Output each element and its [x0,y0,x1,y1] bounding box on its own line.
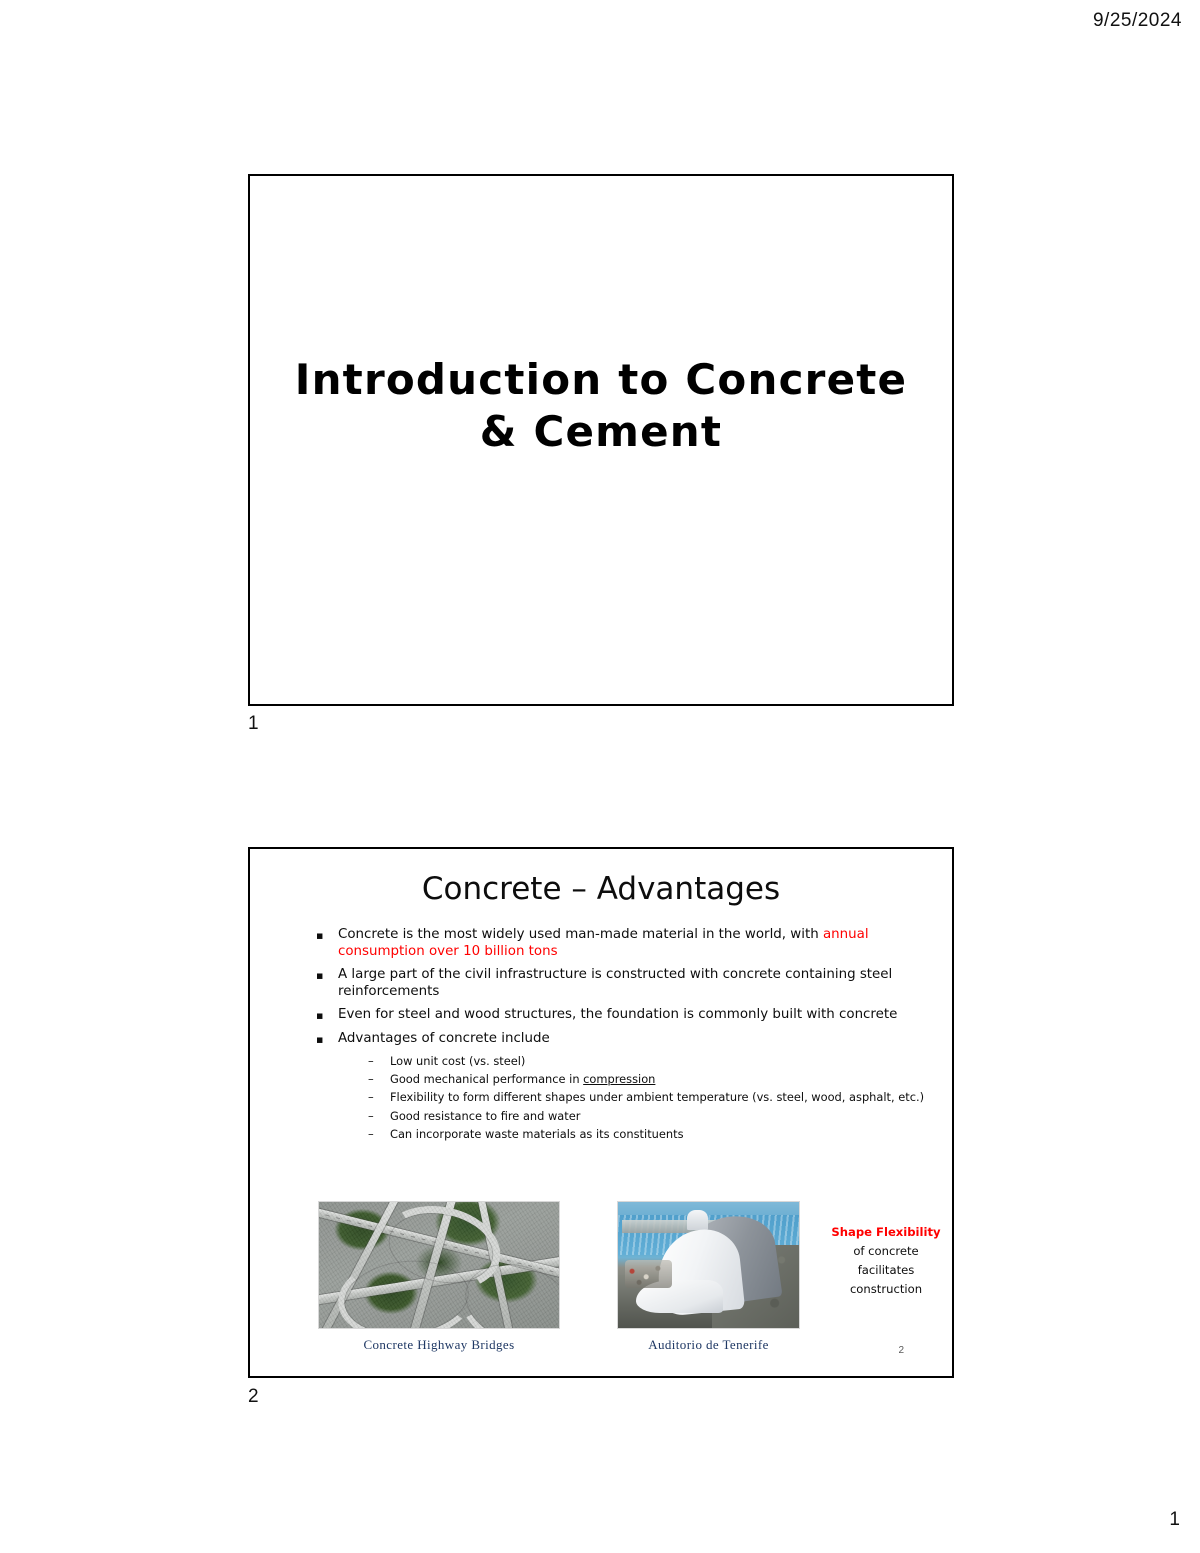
slide-2-page-number: 2 [898,1345,904,1356]
aerial-texture-overlay [319,1202,559,1328]
dash-marker-icon: – [368,1054,374,1069]
slide-1: Introduction to Concrete & Cement [248,174,954,706]
page-date: 9/25/2024 [1093,10,1182,32]
slide-2-title: Concrete – Advantages [250,871,952,907]
dash-marker-icon: – [368,1072,374,1087]
shape-flexibility-line-2: of concrete [820,1242,952,1261]
dash-marker-icon: – [368,1090,374,1105]
sub-bullet-text: Low unit cost (vs. steel) [390,1054,525,1068]
slide-2-figure-row: Concrete Highway Bridges Auditorio de Te… [250,1201,952,1361]
bullet-text: A large part of the civil infrastructure… [338,967,892,999]
sub-bullet-item: – Can incorporate waste materials as its… [364,1127,928,1142]
bullet-item: ▪ Advantages of concrete include – Low u… [308,1031,928,1143]
bullet-item: ▪ Even for steel and wood structures, th… [308,1007,928,1024]
sub-bullet-text: Flexibility to form different shapes und… [390,1090,924,1104]
figure-caption: Concrete Highway Bridges [318,1337,560,1353]
sub-bullet-text: Good mechanical performance in [390,1072,583,1086]
figure-auditorio-de-tenerife: Auditorio de Tenerife [617,1201,800,1353]
sub-bullet-item: – Low unit cost (vs. steel) [364,1054,928,1069]
sub-bullet-text: Good resistance to fire and water [390,1109,580,1123]
page-footer-number: 1 [1169,1509,1180,1531]
bullet-text: Concrete is the most widely used man-mad… [338,927,823,942]
bullet-marker-icon: ▪ [316,968,323,985]
bullet-marker-icon: ▪ [316,1008,323,1025]
sub-bullet-item: – Flexibility to form different shapes u… [364,1090,928,1105]
sub-bullet-item: – Good resistance to fire and water [364,1109,928,1124]
photo-auditorio-de-tenerife [617,1201,800,1329]
bullet-marker-icon: ▪ [316,1032,323,1049]
sub-bullet-underlined-text: compression [583,1072,655,1086]
bullet-text: Even for steel and wood structures, the … [338,1007,897,1022]
slide-2-index-label: 2 [248,1386,259,1408]
people-and-vehicles [625,1260,672,1288]
figure-caption: Auditorio de Tenerife [617,1337,800,1353]
slide-2-sub-bullet-list: – Low unit cost (vs. steel) – Good mecha… [364,1054,928,1143]
bullet-item: ▪ Concrete is the most widely used man-m… [308,927,928,960]
photo-concrete-highway-bridges [318,1201,560,1329]
bullet-text: Advantages of concrete include [338,1031,550,1046]
shape-flexibility-line-3: facilitates [820,1261,952,1280]
figure-concrete-highway-bridges: Concrete Highway Bridges [318,1201,560,1353]
dash-marker-icon: – [368,1127,374,1142]
slide-2: Concrete – Advantages ▪ Concrete is the … [248,847,954,1378]
slide-1-index-label: 1 [248,713,259,735]
shape-flexibility-note: Shape Flexibility of concrete facilitate… [820,1223,952,1299]
slide-1-title-block: Introduction to Concrete & Cement [250,354,952,458]
bullet-item: ▪ A large part of the civil infrastructu… [308,967,928,1000]
auditorium-tower [687,1210,709,1230]
shape-flexibility-line-4: construction [820,1280,952,1299]
sub-bullet-item: – Good mechanical performance in compres… [364,1072,928,1087]
slide-1-title-line-1: Introduction to Concrete [250,354,952,406]
sub-bullet-text: Can incorporate waste materials as its c… [390,1127,684,1141]
dash-marker-icon: – [368,1109,374,1124]
bullet-marker-icon: ▪ [316,928,323,945]
slide-1-title-line-2: & Cement [250,406,952,458]
shape-flexibility-heading: Shape Flexibility [820,1223,952,1242]
slide-2-bullet-list: ▪ Concrete is the most widely used man-m… [308,927,928,1150]
